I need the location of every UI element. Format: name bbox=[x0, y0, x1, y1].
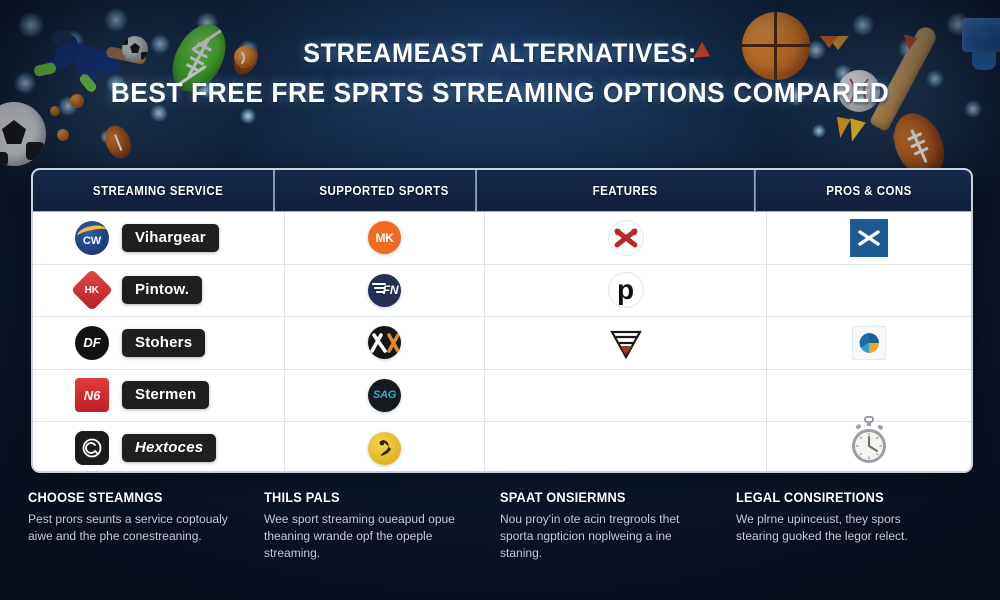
cell-supported-sports[interactable]: MK bbox=[285, 212, 485, 264]
footer-column-legal-consiretions: LEGAL CONSIRETIONS We plrne upinceust, t… bbox=[736, 490, 972, 600]
cell-supported-sports[interactable]: SAG bbox=[285, 370, 485, 422]
column-header-pros-cons: PROS & CONS bbox=[775, 170, 963, 211]
sport-badge-fn-icon: FN bbox=[368, 274, 401, 307]
service-logo-text: N6 bbox=[84, 388, 101, 403]
table-row[interactable]: HK Pintow. FN p bbox=[33, 265, 971, 318]
footer-column-choose-streamings: CHOOSE STEAMNGS Pest prors seunts a serv… bbox=[28, 490, 264, 600]
service-logo-df-icon: DF bbox=[75, 326, 109, 360]
comparison-table: STREAMING SERVICE SUPPORTED SPORTS FEATU… bbox=[31, 168, 973, 473]
cell-pros-cons[interactable] bbox=[767, 422, 971, 473]
cell-features[interactable] bbox=[485, 212, 767, 264]
cell-supported-sports[interactable] bbox=[285, 422, 485, 473]
cell-pros-cons[interactable] bbox=[767, 212, 971, 264]
service-name-chip: Vihargear bbox=[122, 224, 219, 252]
column-header-streaming-service: STREAMING SERVICE bbox=[43, 170, 275, 211]
service-logo-text: DF bbox=[83, 335, 100, 350]
table-row[interactable]: N6 Stermen SAG bbox=[33, 370, 971, 423]
table-row[interactable]: CW Vihargear MK bbox=[33, 212, 971, 265]
footer-column-spaat-onsiermns: SPAAT ONSIERMNS Nou proy'in ote acin tre… bbox=[500, 490, 736, 600]
cell-features[interactable] bbox=[485, 317, 767, 369]
cell-streaming-service[interactable]: HK Pintow. bbox=[33, 265, 285, 317]
footer-body: Pest prors seunts a service coptoualy ai… bbox=[28, 511, 236, 545]
cell-supported-sports[interactable]: FN bbox=[285, 265, 485, 317]
cell-streaming-service[interactable]: CW Vihargear bbox=[33, 212, 285, 264]
sport-badge-sag-icon: SAG bbox=[368, 379, 401, 412]
cell-pros-cons[interactable] bbox=[767, 317, 971, 369]
column-header-supported-sports: SUPPORTED SPORTS bbox=[293, 170, 477, 211]
title-line-1: STREAMEAST ALTERNATIVES: bbox=[30, 38, 970, 68]
stopwatch-icon bbox=[847, 416, 891, 464]
service-logo-cw-icon: CW bbox=[75, 221, 109, 255]
footer-body: Nou proy'in ote acin tregrools thet spor… bbox=[500, 511, 708, 562]
cell-pros-cons[interactable] bbox=[767, 370, 971, 422]
cell-pros-cons[interactable] bbox=[767, 265, 971, 317]
service-logo-hk-icon: HK bbox=[71, 269, 113, 311]
footer-body: We plrne upinceust, they spors stearing … bbox=[736, 511, 944, 545]
service-name-chip: Stohers bbox=[122, 329, 205, 357]
pie-chart-icon bbox=[852, 326, 886, 360]
cell-features[interactable]: p bbox=[485, 265, 767, 317]
sport-badge-text: MK bbox=[375, 231, 393, 245]
service-name-chip: Stermen bbox=[122, 381, 209, 409]
footer-body: Wee sport streaming oueapud opue theanin… bbox=[264, 511, 472, 562]
title-line-2: BEST FREE FRE SPRTS STREAMING OPTIONS CO… bbox=[30, 77, 970, 109]
sport-badge-text: FN bbox=[383, 283, 398, 297]
sport-badge-text: SAG bbox=[373, 389, 396, 401]
column-header-features: FEATURES bbox=[496, 170, 755, 211]
cell-features[interactable] bbox=[485, 370, 767, 422]
letter-p-circle-icon: p bbox=[606, 270, 646, 310]
table-row[interactable]: DF Stohers bbox=[33, 317, 971, 370]
sport-badge-mk-icon: MK bbox=[368, 221, 401, 254]
sport-badge-gold-icon bbox=[368, 432, 401, 465]
red-scissors-icon bbox=[606, 218, 646, 258]
footer-heading: SPAAT ONSIERMNS bbox=[500, 490, 703, 505]
table-row[interactable]: Hextoces bbox=[33, 422, 971, 473]
footer-heading: LEGAL CONSIRETIONS bbox=[736, 490, 939, 505]
service-logo-text: CW bbox=[83, 235, 101, 247]
footer-heading: THILS PALS bbox=[264, 490, 467, 505]
footer-heading: CHOOSE STEAMNGS bbox=[28, 490, 231, 505]
service-logo-text: HK bbox=[85, 285, 99, 296]
inverted-triangle-icon bbox=[606, 323, 646, 363]
page-title: STREAMEAST ALTERNATIVES: BEST FREE FRE S… bbox=[0, 38, 1000, 109]
table-header-row: STREAMING SERVICE SUPPORTED SPORTS FEATU… bbox=[33, 170, 971, 212]
cell-streaming-service[interactable]: N6 Stermen bbox=[33, 370, 285, 422]
service-logo-c-icon bbox=[75, 431, 109, 465]
cell-streaming-service[interactable]: Hextoces bbox=[33, 422, 285, 473]
sport-badge-xx-icon bbox=[368, 326, 401, 359]
footer-column-thils-pals: THILS PALS Wee sport streaming oueapud o… bbox=[264, 490, 500, 600]
blue-square-x-icon bbox=[850, 219, 888, 257]
cell-features[interactable] bbox=[485, 422, 767, 473]
cell-supported-sports[interactable] bbox=[285, 317, 485, 369]
service-name-chip: Hextoces bbox=[122, 434, 216, 462]
service-name-chip: Pintow. bbox=[122, 276, 202, 304]
footer-sections: CHOOSE STEAMNGS Pest prors seunts a serv… bbox=[0, 490, 1000, 600]
cell-streaming-service[interactable]: DF Stohers bbox=[33, 317, 285, 369]
service-logo-n6-icon: N6 bbox=[75, 378, 109, 412]
